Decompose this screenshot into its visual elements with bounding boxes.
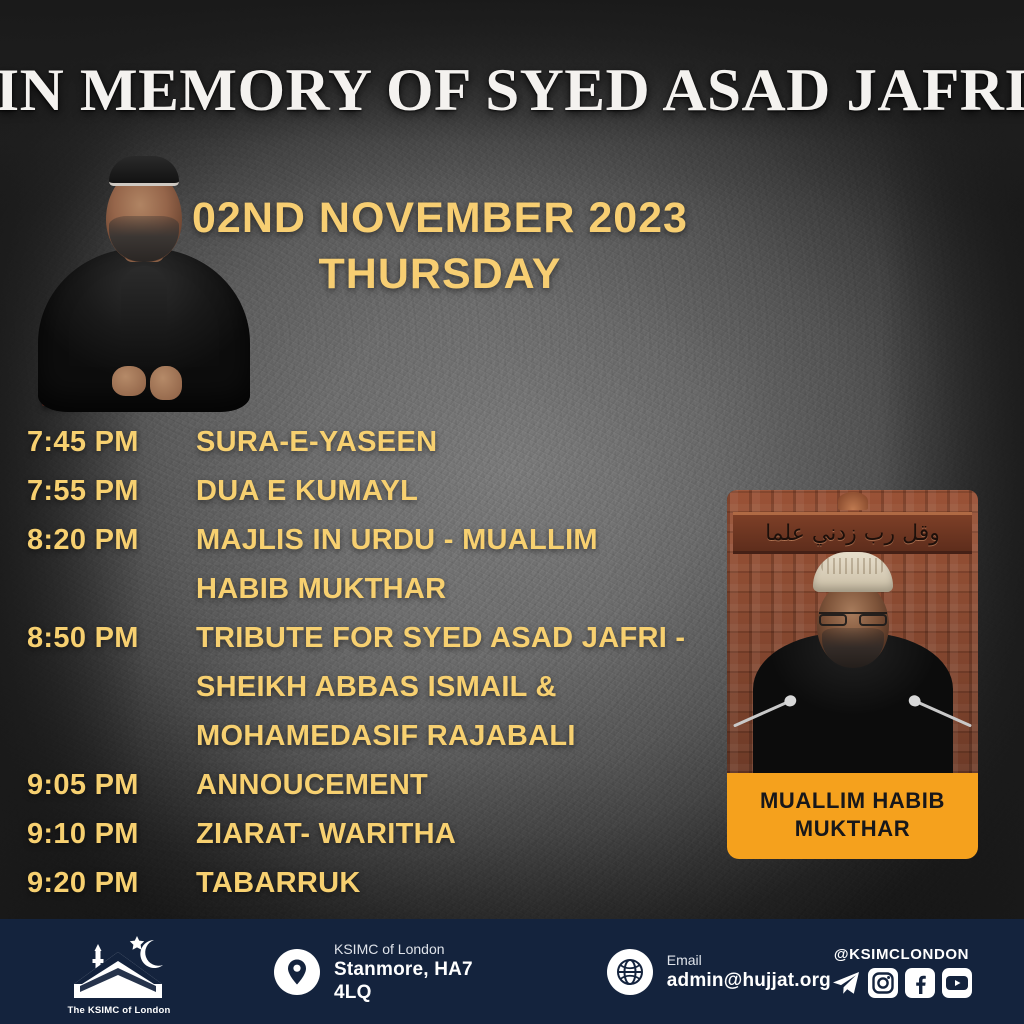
email-value: admin@hujjat.org bbox=[667, 969, 831, 992]
footer-address: KSIMC of London Stanmore, HA7 4LQ bbox=[274, 940, 499, 1004]
social-icon-row bbox=[831, 968, 972, 998]
speaker-card: وقل رب زدني علما MUALLIM HABIB MUKTHAR bbox=[727, 490, 978, 859]
email-label: Email bbox=[667, 951, 831, 969]
event-poster: IN MEMORY OF SYED ASAD JAFRI 02ND NOVEMB… bbox=[0, 0, 1024, 1024]
arabic-calligraphy-text: وقل رب زدني علما bbox=[765, 521, 940, 546]
mosque-logo-icon bbox=[58, 928, 178, 1002]
footer-email: Email admin@hujjat.org bbox=[607, 949, 831, 995]
address-value: Stanmore, HA7 4LQ bbox=[334, 958, 499, 1004]
schedule-title: MAJLIS IN URDU - MUALLIM HABIB MUKTHAR bbox=[196, 516, 690, 614]
portrait-cap bbox=[109, 156, 179, 186]
telegram-icon[interactable] bbox=[831, 968, 861, 998]
schedule-row: 9:10 PM ZIARAT- WARITHA bbox=[0, 810, 690, 859]
schedule-time: 9:20 PM bbox=[0, 859, 196, 908]
schedule-title: DUA E KUMAYL bbox=[196, 467, 690, 516]
social-handle: @KSIMCLONDON bbox=[831, 946, 972, 963]
instagram-icon[interactable] bbox=[868, 968, 898, 998]
footer-address-lines: KSIMC of London Stanmore, HA7 4LQ bbox=[334, 940, 499, 1004]
memorial-portrait-image bbox=[26, 172, 262, 412]
speaker-nameplate: MUALLIM HABIB MUKTHAR bbox=[727, 773, 978, 859]
logo-caption: The KSIMC of London bbox=[44, 1005, 194, 1016]
minbar-calligraphy-panel: وقل رب زدني علما bbox=[733, 512, 972, 554]
poster-headline: IN MEMORY OF SYED ASAD JAFRI bbox=[0, 56, 1024, 125]
footer-social: @KSIMCLONDON bbox=[831, 946, 972, 998]
schedule-time: 9:10 PM bbox=[0, 810, 196, 859]
event-date: 02ND NOVEMBER 2023 bbox=[190, 190, 690, 246]
schedule-time: 8:50 PM bbox=[0, 614, 196, 663]
schedule-time: 7:55 PM bbox=[0, 467, 196, 516]
speaker-name-line1: MUALLIM HABIB bbox=[737, 787, 968, 815]
location-pin-glyph bbox=[285, 958, 309, 986]
footer-bar: The KSIMC of London KSIMC of London Stan… bbox=[0, 919, 1024, 1024]
facebook-glyph bbox=[909, 972, 931, 994]
schedule-title: ANNOUCEMENT bbox=[196, 761, 690, 810]
schedule-row: 8:20 PM MAJLIS IN URDU - MUALLIM HABIB M… bbox=[0, 516, 690, 614]
address-label: KSIMC of London bbox=[334, 940, 499, 958]
event-schedule: 7:45 PM SURA-E-YASEEN 7:55 PM DUA E KUMA… bbox=[0, 418, 690, 908]
speaker-glasses bbox=[819, 612, 887, 624]
schedule-time: 7:45 PM bbox=[0, 418, 196, 467]
location-pin-icon bbox=[274, 949, 320, 995]
portrait-hand-left bbox=[112, 366, 146, 396]
schedule-row: 9:05 PM ANNOUCEMENT bbox=[0, 761, 690, 810]
schedule-row: 7:45 PM SURA-E-YASEEN bbox=[0, 418, 690, 467]
schedule-row: 8:50 PM TRIBUTE FOR SYED ASAD JAFRI - SH… bbox=[0, 614, 690, 761]
schedule-title: SURA-E-YASEEN bbox=[196, 418, 690, 467]
speaker-name-line2: MUKTHAR bbox=[737, 815, 968, 843]
schedule-time: 8:20 PM bbox=[0, 516, 196, 565]
schedule-time: 9:05 PM bbox=[0, 761, 196, 810]
schedule-row: 9:20 PM TABARRUK bbox=[0, 859, 690, 908]
portrait-hand-right bbox=[150, 366, 182, 400]
footer-email-lines: Email admin@hujjat.org bbox=[667, 951, 831, 992]
globe-icon bbox=[607, 949, 653, 995]
schedule-row: 7:55 PM DUA E KUMAYL bbox=[0, 467, 690, 516]
youtube-glyph bbox=[945, 973, 969, 993]
facebook-icon[interactable] bbox=[905, 968, 935, 998]
schedule-title: TABARRUK bbox=[196, 859, 690, 908]
schedule-title: TRIBUTE FOR SYED ASAD JAFRI - SHEIKH ABB… bbox=[196, 614, 690, 761]
youtube-icon[interactable] bbox=[942, 968, 972, 998]
schedule-title: ZIARAT- WARITHA bbox=[196, 810, 690, 859]
speaker-photo: وقل رب زدني علما bbox=[727, 490, 978, 773]
globe-glyph bbox=[615, 957, 645, 987]
minbar-crest bbox=[838, 492, 868, 510]
event-weekday: THURSDAY bbox=[190, 246, 690, 302]
instagram-glyph bbox=[872, 972, 894, 994]
event-date-block: 02ND NOVEMBER 2023 THURSDAY bbox=[190, 190, 690, 302]
telegram-glyph bbox=[831, 970, 861, 996]
organisation-logo: The KSIMC of London bbox=[44, 926, 194, 1018]
